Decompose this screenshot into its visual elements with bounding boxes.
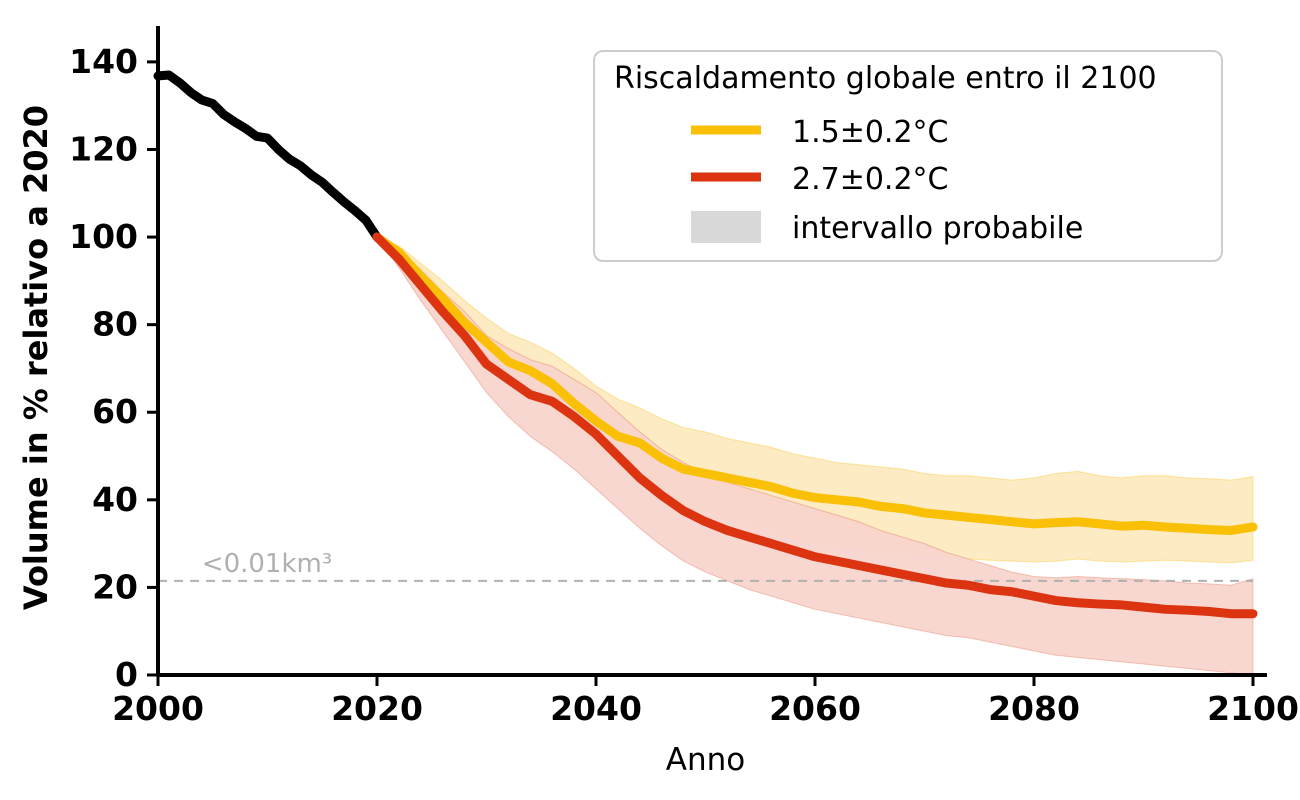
threshold-annotation-label: <0.01km³ [202, 549, 332, 579]
x-tick-label: 2040 [550, 689, 642, 728]
legend-label-1p5c[interactable]: 1.5±0.2°C [792, 115, 949, 150]
y-tick-label: 100 [69, 217, 138, 256]
y-tick-label: 120 [69, 129, 138, 168]
y-tick-label: 20 [92, 567, 138, 606]
y-tick-label: 40 [92, 480, 138, 519]
legend[interactable]: Riscaldamento globale entro il 2100 1.5±… [594, 51, 1222, 261]
x-tick-label: 2020 [331, 689, 423, 728]
y-tick-label: 140 [69, 42, 138, 81]
volume-projection-chart: <0.01km³ 200020202040206020802100 020406… [0, 0, 1300, 800]
legend-swatch-interval [691, 211, 761, 243]
x-tick-label: 2100 [1207, 689, 1299, 728]
legend-title: Riscaldamento globale entro il 2100 [614, 61, 1157, 96]
x-axis-title: Anno [666, 742, 745, 778]
legend-label-interval[interactable]: intervallo probabile [792, 211, 1083, 246]
x-tick-label: 2000 [112, 689, 204, 728]
x-tick-label: 2060 [769, 689, 861, 728]
y-tick-label: 0 [115, 655, 138, 694]
x-tick-label: 2080 [988, 689, 1080, 728]
chart-page: <0.01km³ 200020202040206020802100 020406… [0, 0, 1300, 800]
y-axis-title: Volume in % relativo a 2020 [17, 105, 55, 610]
legend-label-2p7c[interactable]: 2.7±0.2°C [792, 162, 949, 197]
y-tick-label: 80 [92, 305, 138, 344]
y-tick-label: 60 [92, 392, 138, 431]
